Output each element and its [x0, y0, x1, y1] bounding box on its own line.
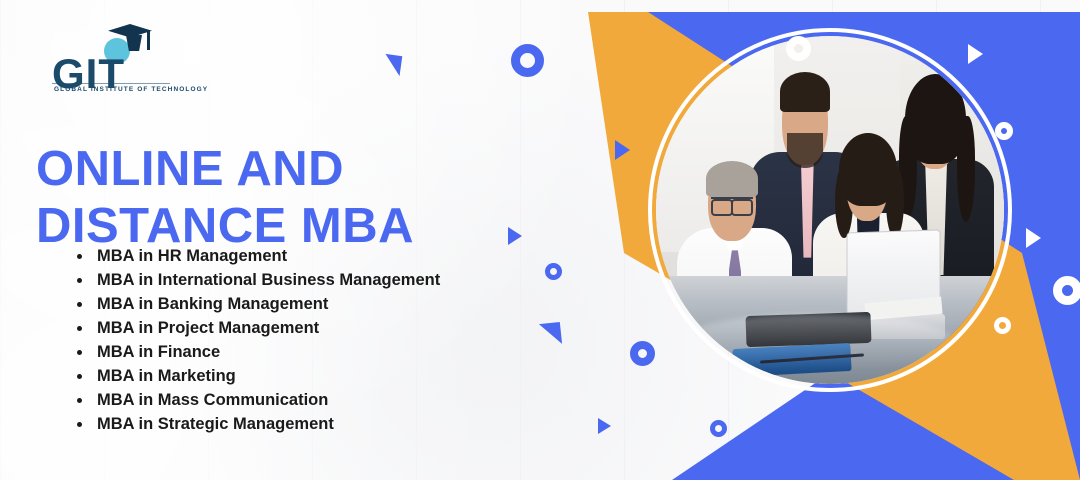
- list-item: MBA in Strategic Management: [93, 412, 440, 436]
- course-list: MBA in HR Management MBA in Internationa…: [75, 244, 440, 436]
- page-title: ONLINE AND DISTANCE MBA: [36, 141, 556, 256]
- list-item: MBA in International Business Management: [93, 268, 440, 292]
- white-triangle-icon: [968, 44, 983, 64]
- logo-divider: [52, 83, 170, 84]
- list-item: MBA in Banking Management: [93, 292, 440, 316]
- list-item: MBA in Finance: [93, 340, 440, 364]
- graduation-cap-tassel: [147, 30, 150, 50]
- blue-ring-icon: [511, 44, 544, 77]
- list-item: MBA in HR Management: [93, 244, 440, 268]
- list-item: MBA in Mass Communication: [93, 388, 440, 412]
- blue-ring-icon: [545, 263, 562, 280]
- white-ring-icon: [1053, 276, 1080, 305]
- table-reflection: [677, 314, 955, 370]
- logo-tagline: GLOBAL INSTITUTE OF TECHNOLOGY: [54, 86, 208, 93]
- list-item: MBA in Project Management: [93, 316, 440, 340]
- white-ring-icon: [994, 317, 1011, 334]
- white-ring-icon: [786, 36, 811, 61]
- blue-ring-icon: [710, 420, 727, 437]
- white-triangle-icon: [1026, 228, 1041, 248]
- blue-triangle-icon: [615, 140, 630, 160]
- blue-triangle-icon: [383, 54, 403, 76]
- team-photo: [656, 36, 1004, 384]
- blue-ring-icon: [630, 341, 655, 366]
- list-item: MBA in Marketing: [93, 364, 440, 388]
- promo-banner: GIT GLOBAL INSTITUTE OF TECHNOLOGY ONLIN…: [0, 0, 1080, 480]
- white-ring-icon: [995, 122, 1013, 140]
- blue-triangle-icon: [539, 322, 562, 346]
- blue-triangle-icon: [598, 418, 611, 434]
- logo[interactable]: GIT GLOBAL INSTITUTE OF TECHNOLOGY: [52, 24, 182, 96]
